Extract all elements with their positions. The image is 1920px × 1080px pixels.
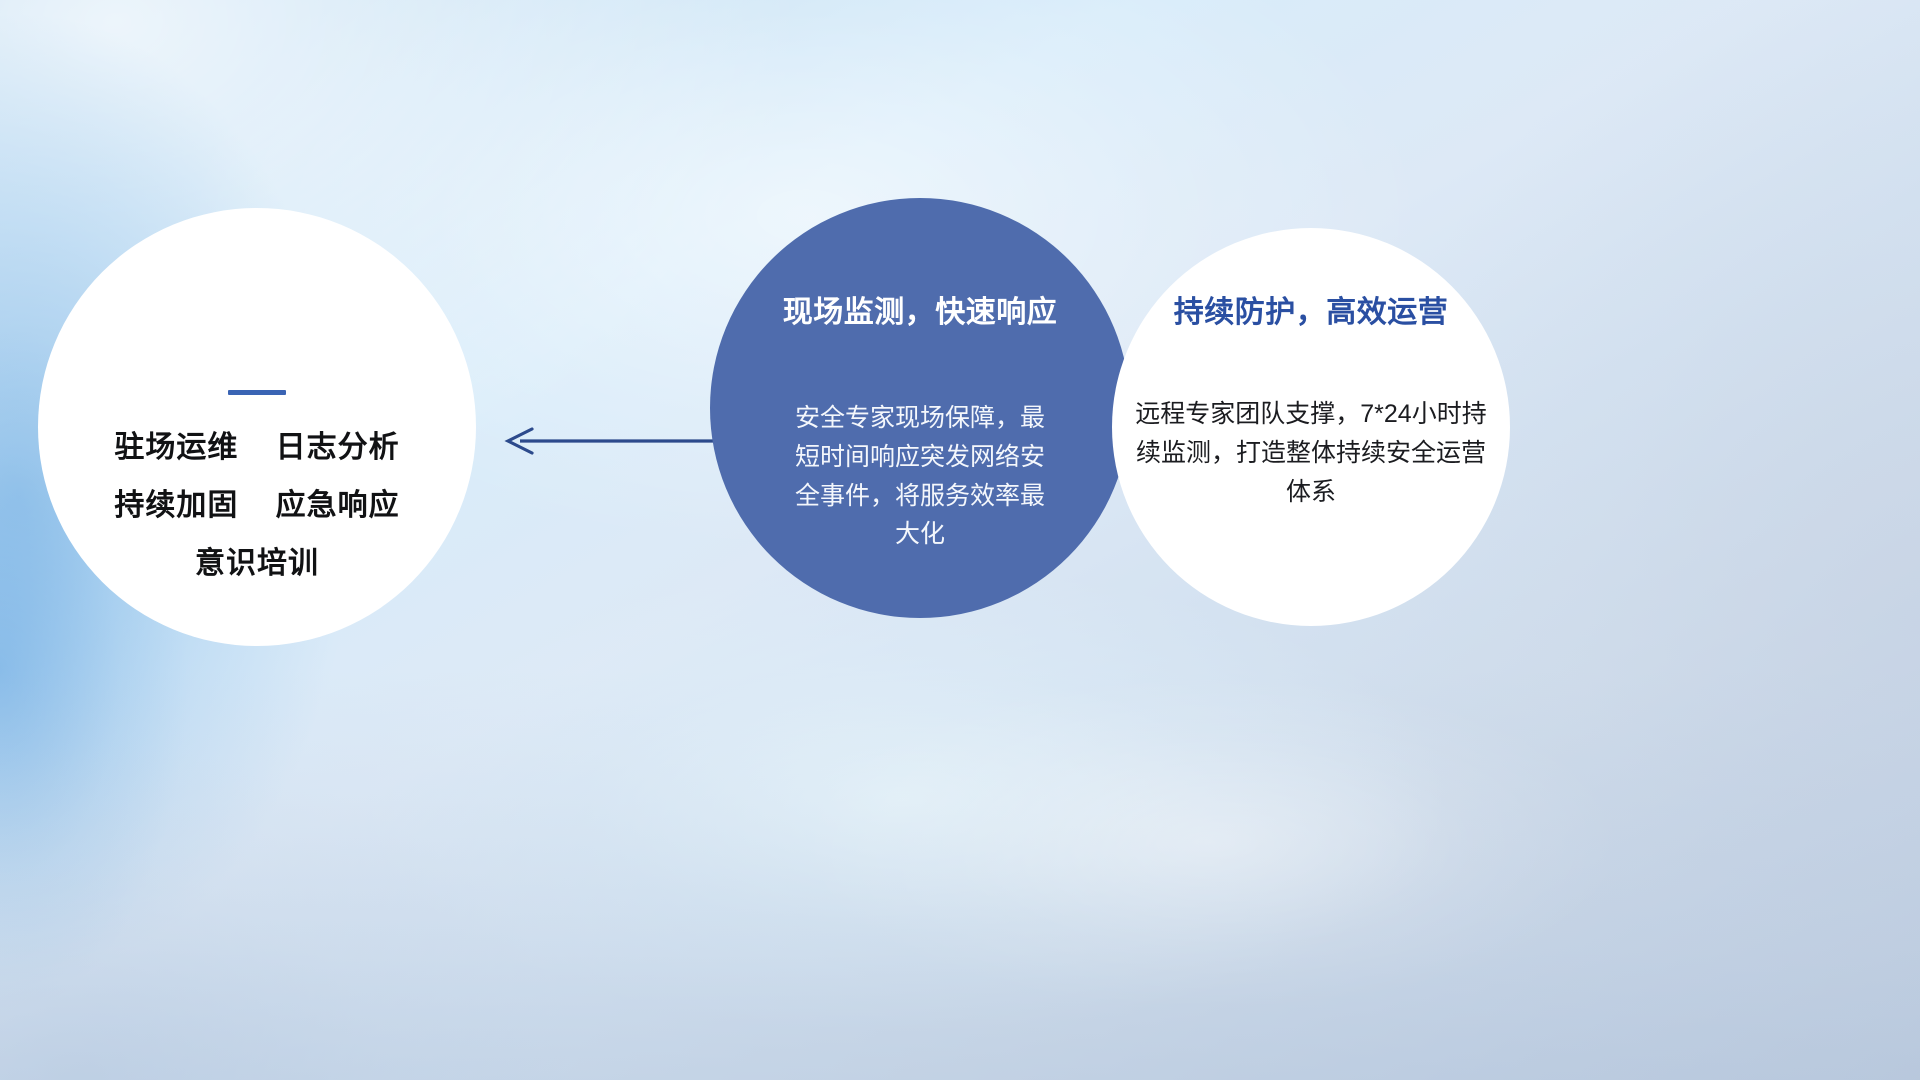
- onsite-monitoring-body: 安全专家现场保障，最短时间响应突发网络安全事件，将服务效率最大化: [784, 399, 1056, 554]
- continuous-protection-circle: 持续防护，高效运营 远程专家团队支撑，7*24小时持续监测，打造整体持续安全运营…: [1112, 228, 1510, 626]
- continuous-protection-body: 远程专家团队支撑，7*24小时持续监测，打造整体持续安全运营体系: [1133, 395, 1489, 511]
- arrow-left-icon: [492, 418, 722, 464]
- onsite-monitoring-title: 现场监测，快速响应: [724, 296, 1116, 329]
- keyword-circle: 驻场运维 日志分析 持续加固 应急响应 意识培训: [38, 208, 476, 646]
- keyword-circle-content: 驻场运维 日志分析 持续加固 应急响应 意识培训: [38, 390, 476, 579]
- onsite-monitoring-content: 现场监测，快速响应 安全专家现场保障，最短时间响应突发网络安全事件，将服务效率最…: [724, 296, 1116, 554]
- continuous-protection-content: 持续防护，高效运营 远程专家团队支撑，7*24小时持续监测，打造整体持续安全运营…: [1122, 296, 1500, 511]
- keyword-row-2: 持续加固 应急响应: [38, 491, 476, 521]
- horizontal-dash-icon: [228, 390, 286, 395]
- keyword-row-3: 意识培训: [38, 549, 476, 579]
- onsite-monitoring-circle: 现场监测，快速响应 安全专家现场保障，最短时间响应突发网络安全事件，将服务效率最…: [710, 198, 1130, 618]
- keyword-row-1: 驻场运维 日志分析: [38, 433, 476, 463]
- slide-canvas: 驻场运维 日志分析 持续加固 应急响应 意识培训 现场监测，快速响应 安全专家现…: [0, 0, 1920, 1080]
- continuous-protection-title: 持续防护，高效运营: [1122, 296, 1500, 329]
